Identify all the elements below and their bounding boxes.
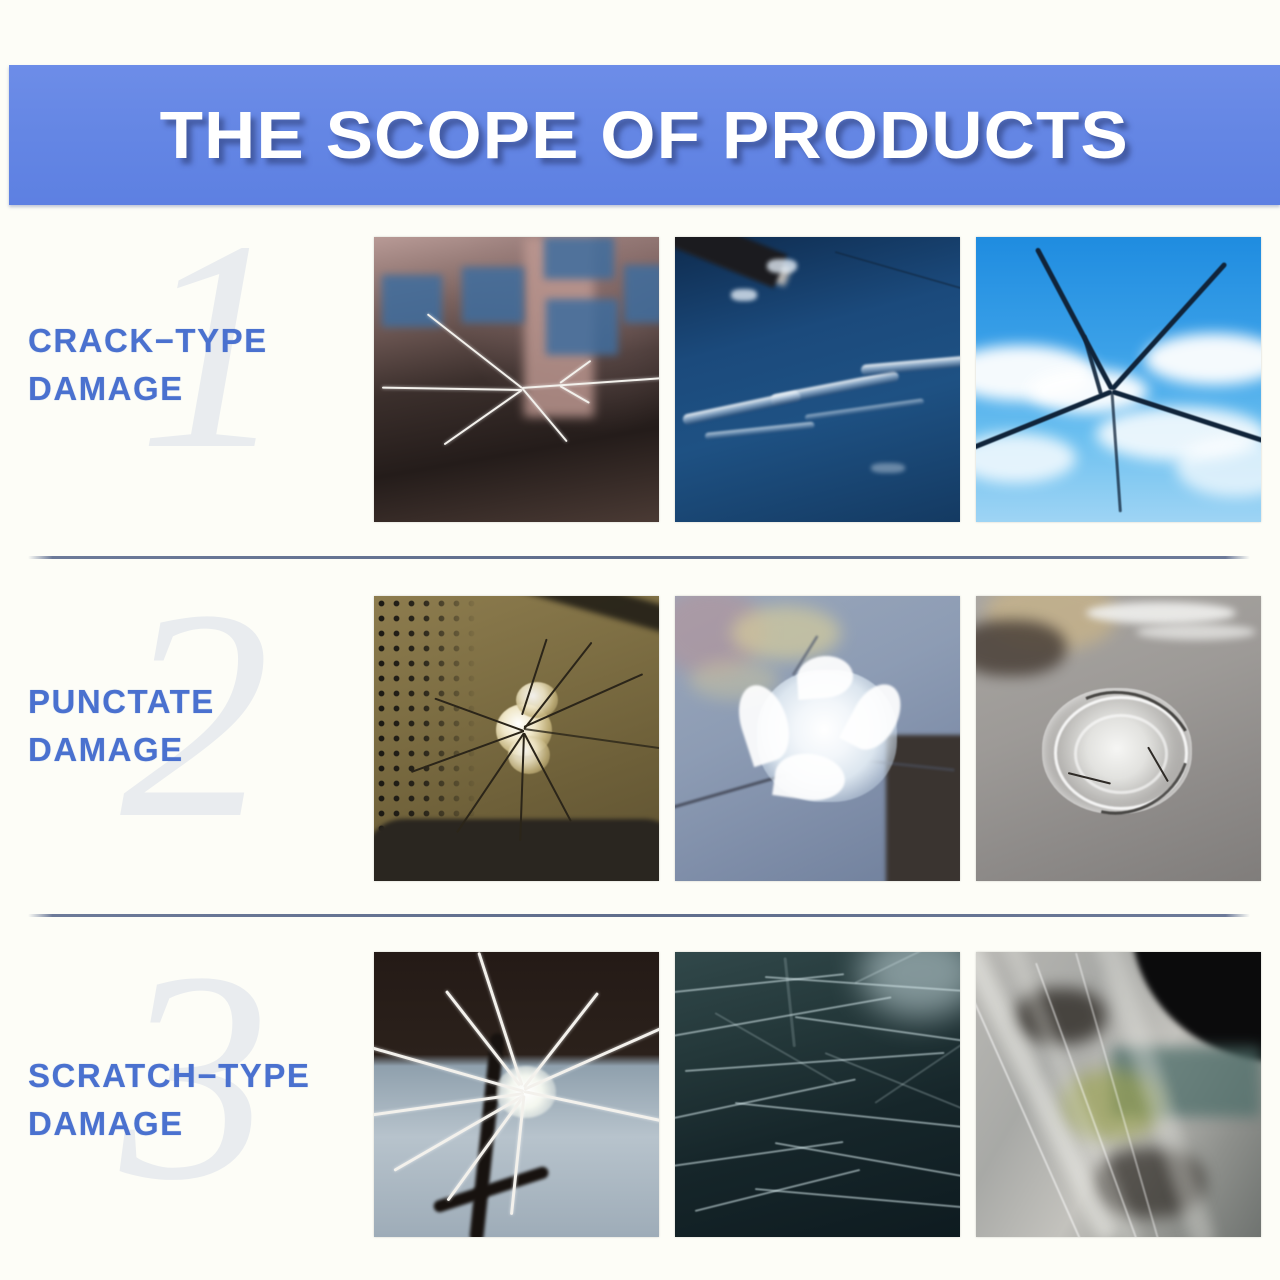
tile-art (976, 952, 1261, 1237)
tile-art (675, 952, 960, 1237)
row-3-image-strip (374, 952, 1261, 1237)
row-1-image-strip (374, 237, 1261, 522)
image-tile-scratch-2[interactable] (675, 952, 960, 1237)
page-title: THE SCOPE OF PRODUCTS (160, 97, 1129, 174)
tile-art (374, 237, 659, 522)
row-label-line1: SCRATCH−TYPE (28, 1052, 368, 1100)
row-label-crack-type: CRACK−TYPE DAMAGE (28, 317, 368, 413)
row-label-punctate: PUNCTATE DAMAGE (28, 678, 368, 774)
row-label-line2: DAMAGE (28, 1100, 368, 1148)
row-2-image-strip (374, 596, 1261, 881)
image-tile-punctate-2[interactable] (675, 596, 960, 881)
infographic-page: THE SCOPE OF PRODUCTS 1 CRACK−TYPE DAMAG… (0, 0, 1280, 1280)
row-label-line2: DAMAGE (28, 726, 368, 774)
tile-art (976, 596, 1261, 881)
image-tile-crack-3[interactable] (976, 237, 1261, 522)
row-label-line1: CRACK−TYPE (28, 317, 368, 365)
image-tile-punctate-3[interactable] (976, 596, 1261, 881)
row-label-line2: DAMAGE (28, 365, 368, 413)
row-punctate-damage: 2 PUNCTATE DAMAGE (0, 588, 1280, 893)
row-label-line1: PUNCTATE (28, 678, 368, 726)
tile-art (675, 237, 960, 522)
row-scratch-type-damage: 3 SCRATCH−TYPE DAMAGE (0, 946, 1280, 1256)
image-tile-scratch-1[interactable] (374, 952, 659, 1237)
tile-art (374, 952, 659, 1237)
image-tile-crack-2[interactable] (675, 237, 960, 522)
tile-art (976, 237, 1261, 522)
tile-art (675, 596, 960, 881)
image-tile-punctate-1[interactable] (374, 596, 659, 881)
tile-art (374, 596, 659, 881)
image-tile-crack-1[interactable] (374, 237, 659, 522)
image-tile-scratch-3[interactable] (976, 952, 1261, 1237)
row-crack-type-damage: 1 CRACK−TYPE DAMAGE (0, 225, 1280, 535)
row-label-scratch-type: SCRATCH−TYPE DAMAGE (28, 1052, 368, 1148)
